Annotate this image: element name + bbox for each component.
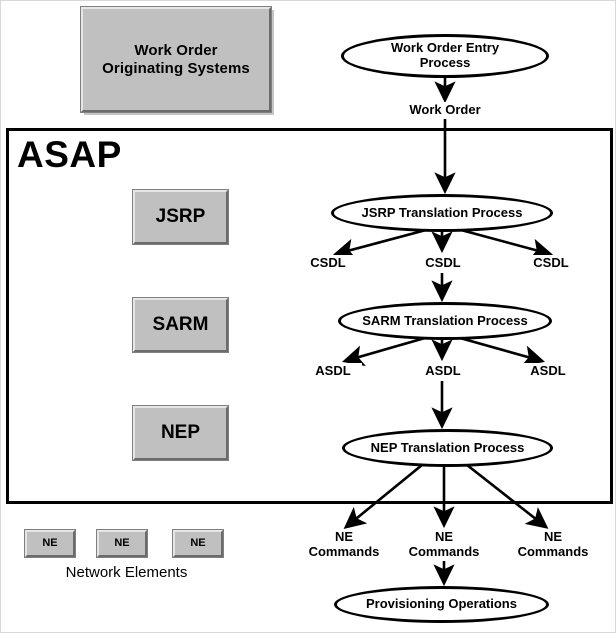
flow-label-ne-commands-right: NE Commands	[500, 529, 606, 560]
module-box-nep: NEP	[133, 406, 228, 460]
ne-commands-right-line2: Commands	[500, 544, 606, 559]
flow-label-ne-commands-left: NE Commands	[291, 529, 397, 560]
diagram-canvas: ASAP Work Order Originating Systems JSRP…	[0, 0, 616, 633]
process-jsrp-label: JSRP Translation Process	[362, 206, 523, 221]
process-sarm-label: SARM Translation Process	[362, 314, 527, 329]
ne-commands-left-line1: NE	[291, 529, 397, 544]
network-element-box-3: NE	[173, 530, 223, 557]
process-nep-label: NEP Translation Process	[371, 441, 525, 456]
module-label-nep: NEP	[161, 422, 200, 444]
process-ellipse-provisioning-operations: Provisioning Operations	[334, 586, 549, 623]
network-element-label-2: NE	[114, 537, 129, 550]
network-element-label-1: NE	[42, 537, 57, 550]
network-elements-caption: Network Elements	[19, 564, 234, 581]
process-provisioning-label: Provisioning Operations	[366, 597, 517, 612]
module-box-jsrp: JSRP	[133, 190, 228, 244]
asap-label: ASAP	[17, 134, 122, 176]
flow-label-work-order: Work Order	[397, 102, 493, 117]
ne-commands-center-line1: NE	[391, 529, 497, 544]
network-element-label-3: NE	[190, 537, 205, 550]
process-entry-line2: Process	[391, 56, 499, 71]
flow-label-csdl-right: CSDL	[522, 255, 580, 270]
process-ellipse-nep-translation: NEP Translation Process	[342, 429, 553, 467]
ne-commands-right-line1: NE	[500, 529, 606, 544]
process-entry-line1: Work Order Entry	[391, 41, 499, 56]
process-ellipse-work-order-entry: Work Order Entry Process	[341, 34, 549, 78]
module-label-sarm: SARM	[153, 314, 209, 336]
process-ellipse-jsrp-translation: JSRP Translation Process	[331, 194, 553, 232]
flow-label-asdl-center: ASDL	[414, 363, 472, 378]
wo-origin-line1: Work Order	[102, 42, 250, 59]
flow-label-csdl-left: CSDL	[299, 255, 357, 270]
process-ellipse-sarm-translation: SARM Translation Process	[338, 302, 552, 340]
network-element-box-2: NE	[97, 530, 147, 557]
network-element-box-1: NE	[25, 530, 75, 557]
flow-label-csdl-center: CSDL	[414, 255, 472, 270]
module-label-jsrp: JSRP	[156, 206, 206, 228]
flow-label-ne-commands-center: NE Commands	[391, 529, 497, 560]
work-order-originating-systems-box: Work Order Originating Systems	[81, 7, 271, 112]
ne-commands-left-line2: Commands	[291, 544, 397, 559]
ne-commands-center-line2: Commands	[391, 544, 497, 559]
module-box-sarm: SARM	[133, 298, 228, 352]
flow-label-asdl-left: ASDL	[304, 363, 362, 378]
flow-label-asdl-right: ASDL	[519, 363, 577, 378]
wo-origin-line2: Originating Systems	[102, 60, 250, 77]
